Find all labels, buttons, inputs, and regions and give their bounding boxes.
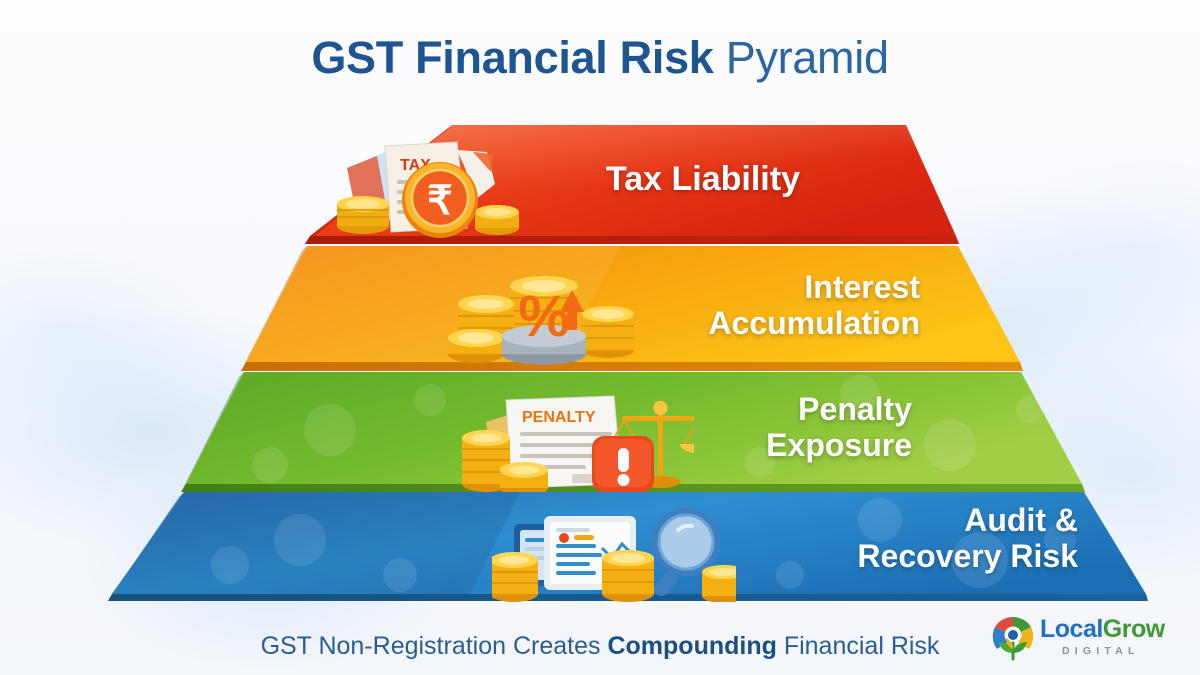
tier-2-label: Interest Accumulation bbox=[620, 270, 920, 342]
logo-wordmark: LocalGrow DIGITAL bbox=[1040, 617, 1165, 657]
tier-4-label: Audit & Recovery Risk bbox=[760, 503, 1078, 575]
pyramid-diagram: TAX bbox=[0, 0, 1200, 675]
pyramid-tier-audit-recovery-risk[interactable]: Audit & Recovery Risk bbox=[0, 0, 1200, 615]
logo-subtitle: DIGITAL bbox=[1040, 645, 1165, 657]
localgrow-leaf-circle-logo-icon bbox=[988, 613, 1038, 663]
magnifier-report-coins-icon bbox=[492, 502, 736, 602]
footer-pre: GST Non-Registration Creates bbox=[261, 632, 608, 660]
infographic-canvas: GST Financial Risk Pyramid bbox=[0, 0, 1200, 675]
tier-3-label: Penalty Exposure bbox=[700, 392, 912, 464]
footer-bold: Compounding bbox=[607, 632, 776, 660]
tier-1-label: Tax Liability bbox=[560, 160, 800, 198]
footer-post: Financial Risk bbox=[777, 632, 940, 660]
logo-word-local: Local bbox=[1040, 615, 1103, 643]
logo-word-grow: Grow bbox=[1103, 615, 1165, 643]
brand-logo[interactable]: LocalGrow DIGITAL bbox=[988, 611, 1188, 667]
